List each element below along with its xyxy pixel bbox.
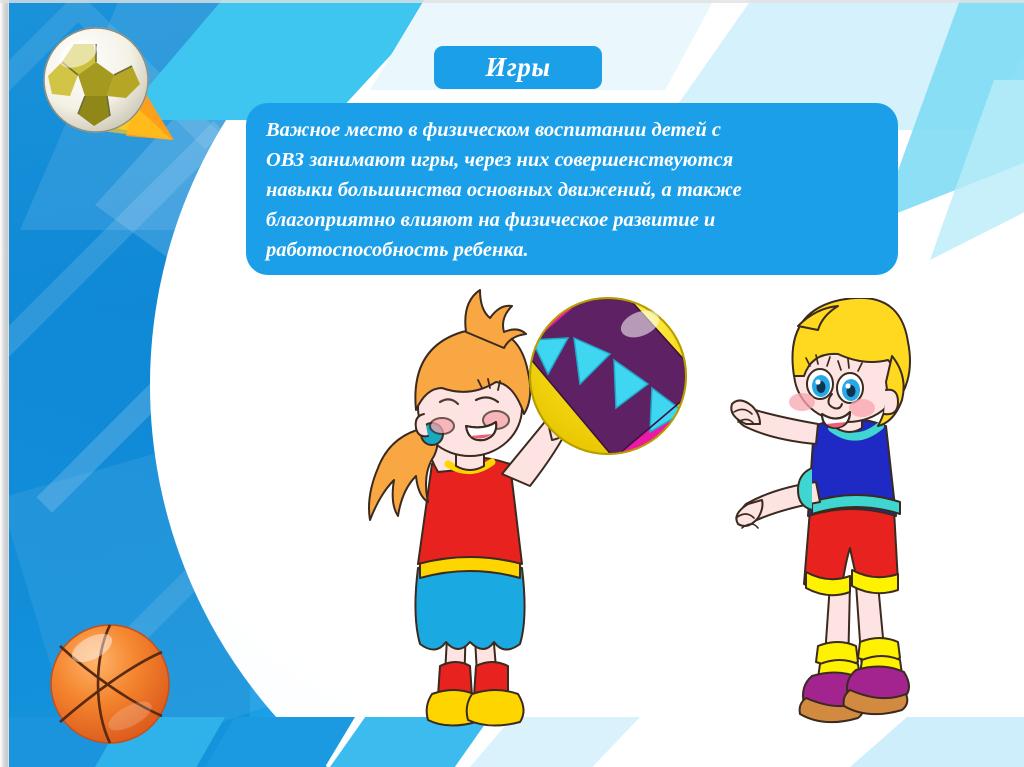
body-line-4: благоприятно влияют на физическое развит… [266, 205, 872, 235]
slide-left-edge-strip [0, 0, 9, 767]
body-text-panel: Важное место в физическом воспитании дет… [246, 103, 898, 275]
presentation-slide: Игры Важное место в физическом воспитани… [0, 0, 1024, 767]
boy-character [720, 298, 970, 748]
slide-top-edge-strip [0, 0, 1024, 3]
basketball-icon [38, 612, 183, 757]
body-line-2: ОВЗ занимают игры, через них совершенств… [266, 145, 872, 175]
play-ball-icon [518, 288, 698, 463]
soccer-ball-icon [22, 18, 192, 178]
body-line-3: навыки большинства основных движений, а … [266, 175, 872, 205]
body-line-5: работоспособность ребенка. [266, 235, 872, 265]
slide-title-badge: Игры [434, 46, 602, 89]
body-line-1: Важное место в физическом воспитании дет… [266, 115, 872, 145]
page-title: Игры [485, 52, 550, 83]
